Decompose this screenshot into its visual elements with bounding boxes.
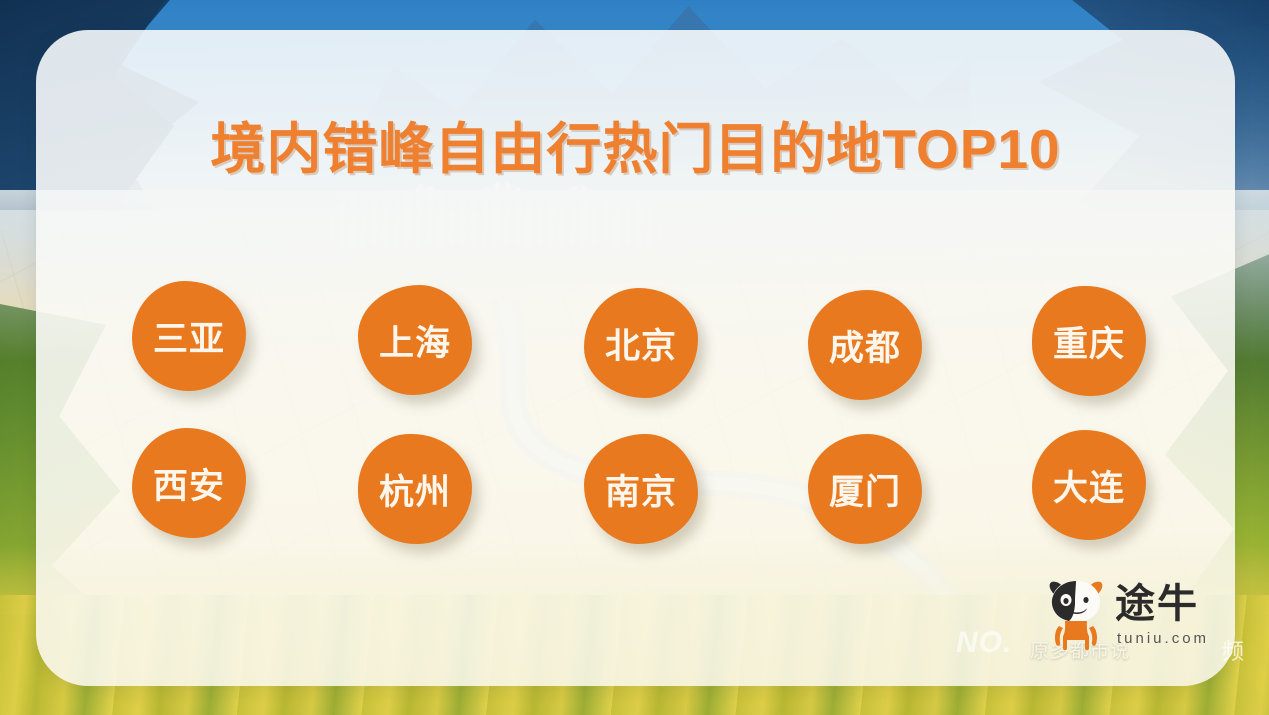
destination-label: 西安 (153, 458, 225, 509)
brand-logo[interactable]: 途牛 tuniu.com (1045, 578, 1235, 674)
destination-badge-1[interactable]: 三亚 (132, 281, 246, 391)
cow-mascot-icon (1045, 578, 1107, 654)
brand-name: 途牛 (1115, 584, 1199, 624)
destination-label: 厦门 (829, 464, 901, 515)
destination-label: 北京 (605, 318, 677, 369)
destination-label: 重庆 (1053, 316, 1125, 367)
destination-badge-4[interactable]: 成都 (808, 290, 922, 400)
destination-badge-10[interactable]: 大连 (1032, 430, 1146, 540)
destination-label: 成都 (829, 320, 901, 371)
destination-badge-7[interactable]: 杭州 (358, 434, 472, 544)
destination-label: 大连 (1053, 460, 1125, 511)
destination-badge-8[interactable]: 南京 (584, 434, 698, 544)
poster-stage: 境内错峰自由行热门目的地TOP10 三亚 上海 北京 成都 重庆 西安 杭州 南… (0, 0, 1269, 715)
destination-label: 上海 (379, 315, 451, 366)
destination-label: 杭州 (379, 464, 451, 515)
watermark-left: NO. (956, 626, 1012, 660)
destination-label: 三亚 (153, 311, 225, 362)
destination-badge-2[interactable]: 上海 (358, 285, 472, 395)
destination-label: 南京 (605, 464, 677, 515)
brand-domain: tuniu.com (1117, 630, 1209, 647)
destination-badge-5[interactable]: 重庆 (1032, 286, 1146, 396)
destination-badge-9[interactable]: 厦门 (808, 434, 922, 544)
destination-badge-3[interactable]: 北京 (584, 288, 698, 398)
destination-badge-6[interactable]: 西安 (132, 428, 246, 538)
